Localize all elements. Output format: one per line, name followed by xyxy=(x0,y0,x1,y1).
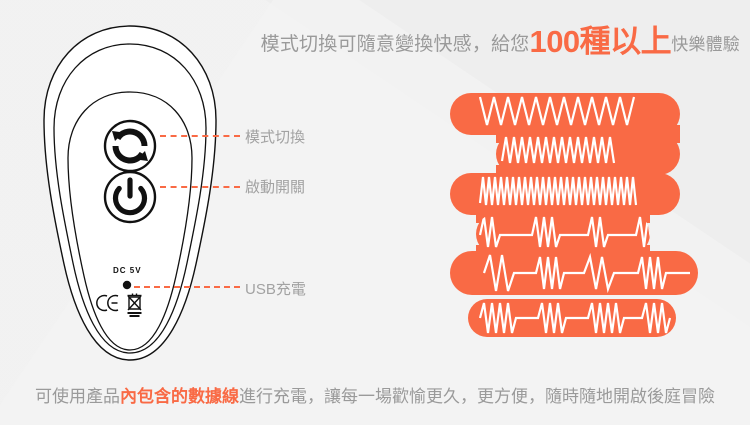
promo-banner: 模式切換可隨意變換快感，給您100種以上快樂體驗 xyxy=(0,0,750,425)
callout-label-usb: USB充電 xyxy=(245,278,306,299)
footer-accent: 內包含的數據線 xyxy=(120,387,239,406)
device-illustration: DC 5V xyxy=(20,8,240,383)
ce-mark-icon xyxy=(97,296,118,311)
weee-crossed-bin-icon xyxy=(128,294,142,317)
headline-lead: 模式切換可隨意變換快感，給您 xyxy=(261,34,530,55)
callout-label-mode: 模式切換 xyxy=(245,126,305,147)
footer-caption: 可使用產品內包含的數據線進行充電，讓每一場歡愉更久，更方便，隨時隨地開啟後庭冒險 xyxy=(0,382,750,407)
cycle-arrows-icon xyxy=(112,129,148,164)
footer-tail: 進行充電，讓每一場歡愉更久，更方便，隨時隨地開啟後庭冒險 xyxy=(239,387,715,406)
headline-tail: 快樂體驗 xyxy=(671,35,740,54)
callout-dash-usb xyxy=(134,286,240,288)
callout-dash-power xyxy=(160,186,240,188)
certification-marks xyxy=(96,290,158,320)
power-button[interactable] xyxy=(103,170,157,224)
vibration-pattern-graphic xyxy=(440,85,750,350)
headline-accent: 100種以上 xyxy=(529,24,671,59)
power-icon xyxy=(116,180,145,213)
footer-lead: 可使用產品 xyxy=(35,387,120,406)
callout-label-power: 啟動開關 xyxy=(245,176,305,197)
dc-rating-label: DC 5V xyxy=(113,266,142,275)
callout-dash-mode xyxy=(160,135,240,137)
vibration-pattern-svg xyxy=(440,85,750,345)
mode-button[interactable] xyxy=(103,119,157,173)
